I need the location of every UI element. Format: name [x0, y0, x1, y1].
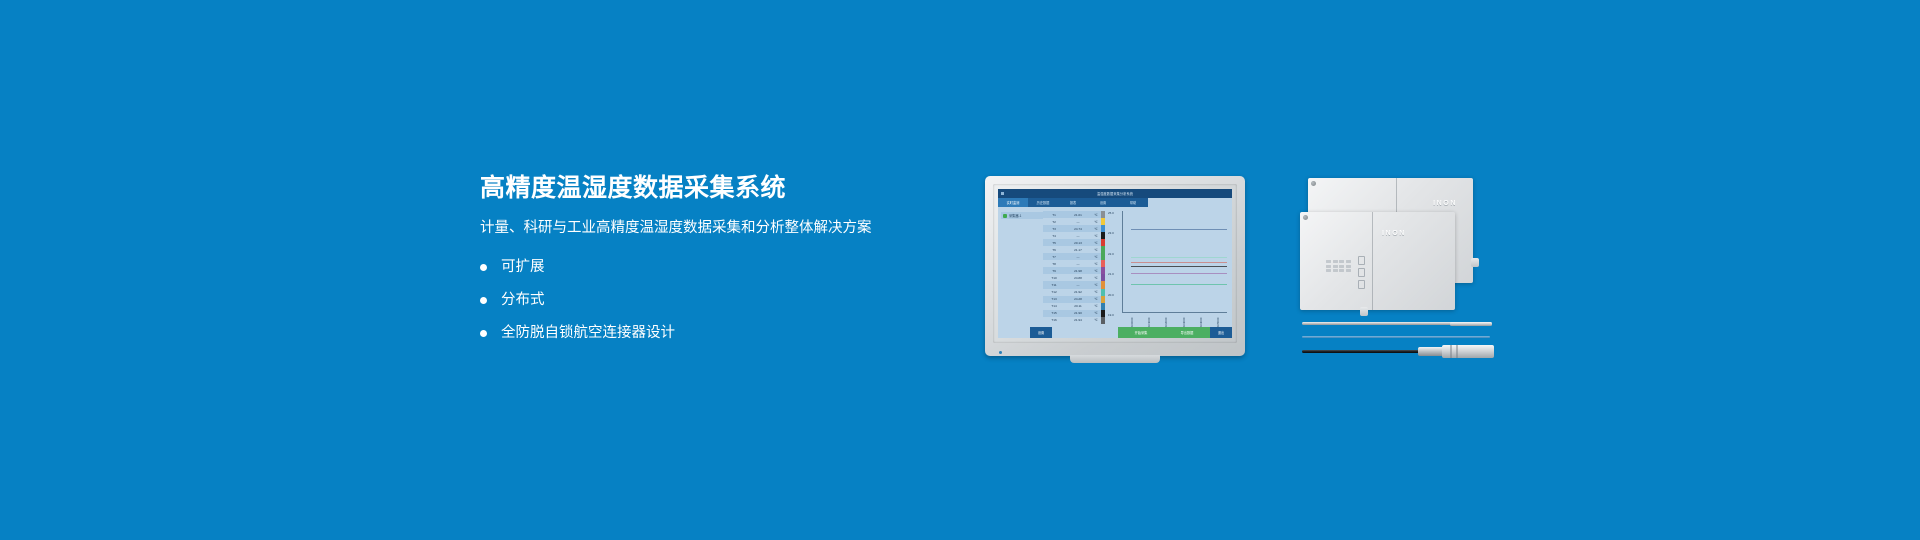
power-led-icon [999, 351, 1002, 354]
aviation-connector-probe-cable [1302, 350, 1422, 353]
channel-name: T4 [1043, 234, 1065, 238]
channel-unit: ℃ [1091, 227, 1101, 231]
channel-unit: ℃ [1091, 241, 1101, 245]
channel-color-swatch [1101, 239, 1105, 246]
bullet-dot-icon [480, 330, 487, 337]
app-window-title: 温湿度数据采集分析系统 [998, 191, 1232, 196]
tree-item-collector[interactable]: 采集器-1 [1001, 212, 1043, 219]
channel-unit: ℃ [1091, 234, 1101, 238]
channel-name: T16 [1043, 318, 1065, 322]
y-axis-tick: 25.0 [1108, 211, 1114, 215]
channel-value: 21.17 [1065, 248, 1091, 252]
x-axis-tick: 10:20:00 [1164, 314, 1168, 327]
status-online-icon [1003, 214, 1007, 218]
table-row[interactable]: T2---℃ [1043, 218, 1105, 225]
cable-ferrule [1418, 347, 1444, 356]
channel-name: T11 [1043, 283, 1065, 287]
screw-icon [1311, 181, 1316, 186]
connector-ring [1450, 345, 1452, 358]
app-footer: 设置 开始采集 导出数据 退出 [998, 327, 1232, 338]
x-axis-tick: 10:30:00 [1182, 314, 1186, 327]
connector-ring [1456, 345, 1458, 358]
channel-color-swatch [1101, 218, 1105, 225]
channel-value: 21.92 [1065, 290, 1091, 294]
x-axis-tick: 10:10:00 [1147, 314, 1151, 327]
channel-value: 24.74 [1065, 227, 1091, 231]
channel-color-swatch [1101, 246, 1105, 253]
channel-name: T6 [1043, 248, 1065, 252]
channel-unit: ℃ [1091, 269, 1101, 273]
channel-unit: ℃ [1091, 220, 1101, 224]
product-banner: 高精度温湿度数据采集系统 计量、科研与工业高精度温湿度数据采集和分析整体解决方案… [0, 0, 1920, 540]
y-axis-tick: 20.0 [1108, 293, 1114, 297]
bullet-dot-icon [480, 297, 487, 304]
chart-plot-area [1123, 211, 1227, 313]
app-body: 采集器-1 T121.01℃T2---℃T324.74℃T4---℃T520.1… [998, 207, 1232, 327]
channel-unit: ℃ [1091, 318, 1101, 322]
channel-value: --- [1065, 262, 1091, 266]
channel-value: 24.88 [1065, 276, 1091, 280]
feature-label: 全防脱自锁航空连接器设计 [501, 324, 675, 342]
y-axis-tick: 22.0 [1108, 252, 1114, 256]
channel-unit: ℃ [1091, 255, 1101, 259]
monitor-bezel-outer: 温湿度数据采集分析系统 实时监测 历史数据 报表 设置 帮助 [985, 176, 1245, 356]
list-item: 分布式 [480, 291, 900, 309]
connector-port [1360, 307, 1368, 316]
channel-value: --- [1065, 255, 1091, 259]
channel-name: T14 [1043, 304, 1065, 308]
channel-color-swatch [1101, 303, 1105, 310]
x-axis-tick: 10:50:00 [1216, 314, 1220, 327]
brand-label: INON [1433, 200, 1457, 207]
x-axis-tick: 10:00:00 [1130, 314, 1134, 327]
channel-value: --- [1065, 283, 1091, 287]
hardware-group: INON INON [1300, 174, 1490, 364]
channel-unit: ℃ [1091, 283, 1101, 287]
channel-color-swatch [1101, 274, 1105, 281]
list-item: 全防脱自锁航空连接器设计 [480, 324, 900, 342]
channel-name: T8 [1043, 262, 1065, 266]
screw-icon [1303, 215, 1308, 220]
enclosure-front: INON [1300, 212, 1455, 310]
brand-label: INON [1382, 230, 1406, 237]
start-acquisition-button[interactable]: 开始采集 [1118, 327, 1164, 338]
page-title: 高精度温湿度数据采集系统 [480, 173, 900, 203]
table-row[interactable]: T121.01℃ [1043, 211, 1105, 218]
channel-name: T9 [1043, 269, 1065, 273]
table-row[interactable]: T621.17℃ [1043, 246, 1105, 253]
channel-color-swatch [1101, 317, 1105, 324]
channel-name: T10 [1043, 276, 1065, 280]
trend-chart: 25.023.022.021.020.019.0 10:00:0010:10:0… [1108, 211, 1229, 327]
channel-unit: ℃ [1091, 213, 1101, 217]
channel-unit: ℃ [1091, 304, 1101, 308]
channel-color-swatch [1101, 211, 1105, 218]
trend-line [1131, 273, 1227, 274]
table-row[interactable]: T520.13℃ [1043, 239, 1105, 246]
tab-report[interactable]: 报表 [1058, 198, 1088, 207]
port-column [1358, 256, 1365, 289]
channel-value: --- [1065, 220, 1091, 224]
app-tab-bar: 实时监测 历史数据 报表 设置 帮助 [998, 198, 1232, 207]
tab-help[interactable]: 帮助 [1118, 198, 1148, 207]
chart-y-axis: 25.023.022.021.020.019.0 [1108, 211, 1123, 313]
trend-line [1131, 262, 1227, 263]
footer-left-group: 设置 [998, 327, 1060, 338]
tab-history[interactable]: 历史数据 [1028, 198, 1058, 207]
y-axis-tick: 21.0 [1108, 272, 1114, 276]
tab-settings[interactable]: 设置 [1088, 198, 1118, 207]
app-title-bar: 温湿度数据采集分析系统 [998, 189, 1232, 198]
channel-value: --- [1065, 234, 1091, 238]
probe-tip [1450, 322, 1492, 326]
channel-name: T3 [1043, 227, 1065, 231]
table-row[interactable]: T1621.94℃ [1043, 317, 1105, 324]
channel-name: T2 [1043, 220, 1065, 224]
channel-value: 20.11 [1065, 304, 1091, 308]
footer-spacer [1060, 327, 1118, 338]
feature-label: 分布式 [501, 291, 545, 309]
channel-color-swatch [1101, 310, 1105, 317]
trend-line [1131, 266, 1227, 267]
table-row[interactable]: T7---℃ [1043, 253, 1105, 260]
tab-realtime[interactable]: 实时监测 [998, 198, 1028, 207]
table-row[interactable]: T1024.88℃ [1043, 274, 1105, 281]
channel-table: T121.01℃T2---℃T324.74℃T4---℃T520.13℃T621… [1043, 211, 1105, 327]
chart-x-axis: 10:00:0010:10:0010:20:0010:30:0010:40:00… [1123, 314, 1227, 327]
channel-unit: ℃ [1091, 297, 1101, 301]
channel-color-swatch [1101, 281, 1105, 288]
export-data-button[interactable]: 导出数据 [1164, 327, 1210, 338]
feature-list: 可扩展 分布式 全防脱自锁航空连接器设计 [480, 238, 900, 342]
table-row[interactable]: T324.74℃ [1043, 225, 1105, 232]
bullet-dot-icon [480, 264, 487, 271]
table-row[interactable]: T921.98℃ [1043, 267, 1105, 274]
table-row[interactable]: T4---℃ [1043, 232, 1105, 239]
monitor-bezel-inner: 温湿度数据采集分析系统 实时监测 历史数据 报表 设置 帮助 [993, 184, 1237, 343]
metal-rod-probe [1302, 322, 1452, 325]
table-row[interactable]: T1221.92℃ [1043, 289, 1105, 296]
channel-value: 24.28 [1065, 297, 1091, 301]
list-item: 可扩展 [480, 258, 900, 276]
channel-name: T15 [1043, 311, 1065, 315]
channel-unit: ℃ [1091, 262, 1101, 266]
channel-name: T7 [1043, 255, 1065, 259]
channel-color-swatch [1101, 253, 1105, 260]
channel-name: T12 [1043, 290, 1065, 294]
channel-name: T1 [1043, 213, 1065, 217]
channel-color-swatch [1101, 296, 1105, 303]
feature-label: 可扩展 [501, 258, 545, 276]
table-row[interactable]: T11---℃ [1043, 281, 1105, 288]
panel-pc-monitor: 温湿度数据采集分析系统 实时监测 历史数据 报表 设置 帮助 [985, 176, 1245, 356]
channel-unit: ℃ [1091, 311, 1101, 315]
table-row[interactable]: T1420.11℃ [1043, 303, 1105, 310]
channel-color-swatch [1101, 267, 1105, 274]
channel-color-swatch [1101, 260, 1105, 267]
device-tree-panel: 采集器-1 [1001, 211, 1043, 327]
exit-button[interactable]: 退出 [1210, 327, 1232, 338]
table-row[interactable]: T1324.28℃ [1043, 296, 1105, 303]
monitor-screen: 温湿度数据采集分析系统 实时监测 历史数据 报表 设置 帮助 [998, 189, 1232, 338]
trend-line [1131, 257, 1227, 258]
channel-value: 21.94 [1065, 318, 1091, 322]
trend-line [1131, 284, 1227, 285]
channel-color-swatch [1101, 232, 1105, 239]
connector-port [1471, 258, 1479, 267]
channel-value: 21.90 [1065, 311, 1091, 315]
table-row[interactable]: T1521.90℃ [1043, 310, 1105, 317]
channel-value: 20.13 [1065, 241, 1091, 245]
page-subtitle: 计量、科研与工业高精度温湿度数据采集和分析整体解决方案 [480, 203, 900, 238]
settings-button[interactable]: 设置 [1030, 327, 1052, 338]
y-axis-tick: 19.0 [1108, 313, 1114, 317]
channel-unit: ℃ [1091, 290, 1101, 294]
thin-wire-probe [1302, 336, 1490, 338]
channel-unit: ℃ [1091, 276, 1101, 280]
monitor-stand [1070, 355, 1160, 363]
channel-unit: ℃ [1091, 248, 1101, 252]
channel-color-swatch [1101, 225, 1105, 232]
terminal-grid [1326, 260, 1351, 272]
channel-name: T5 [1043, 241, 1065, 245]
channel-value: 21.01 [1065, 213, 1091, 217]
trend-line [1131, 229, 1227, 230]
channel-value: 21.98 [1065, 269, 1091, 273]
hero-text-block: 高精度温湿度数据采集系统 计量、科研与工业高精度温湿度数据采集和分析整体解决方案… [480, 173, 900, 342]
y-axis-tick: 23.0 [1108, 231, 1114, 235]
channel-color-swatch [1101, 289, 1105, 296]
tree-item-label: 采集器-1 [1009, 213, 1021, 218]
table-row[interactable]: T8---℃ [1043, 260, 1105, 267]
channel-name: T13 [1043, 297, 1065, 301]
x-axis-tick: 10:40:00 [1199, 314, 1203, 327]
tab-bar-filler [1148, 198, 1232, 207]
